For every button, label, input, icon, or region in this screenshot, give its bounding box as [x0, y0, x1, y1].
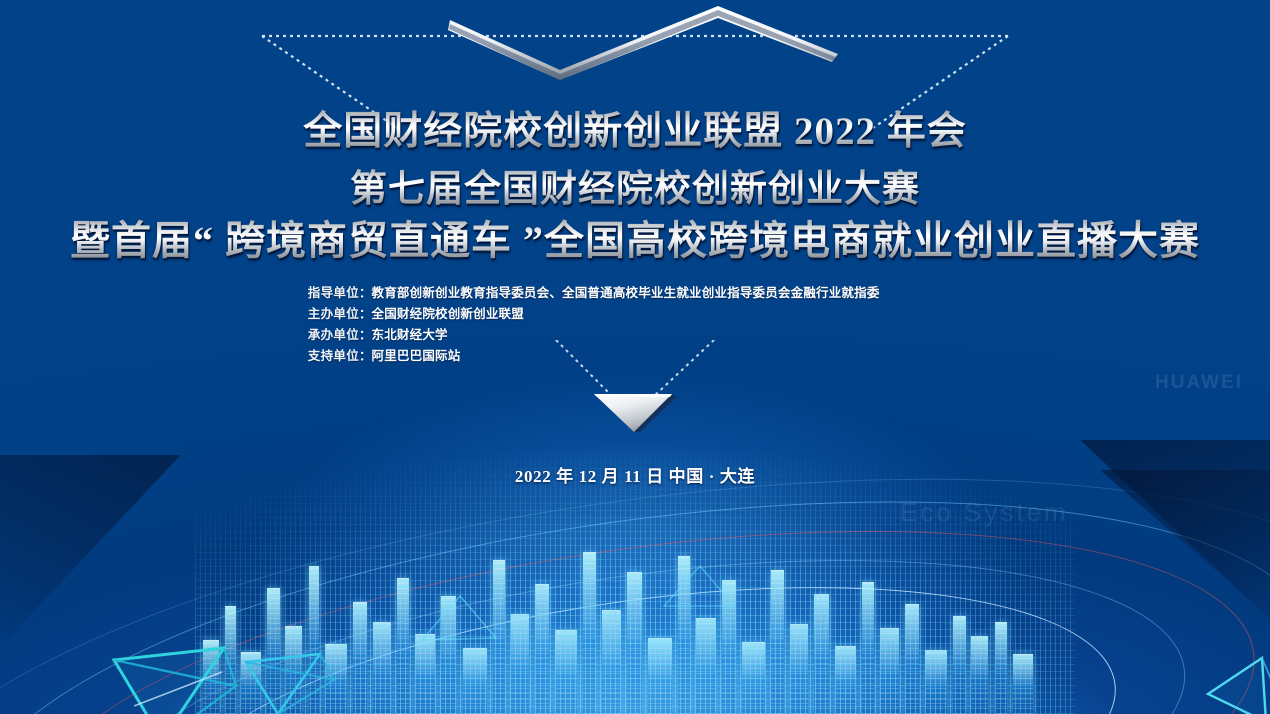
wireframe-triangle-left-small: [238, 640, 368, 714]
organizer-value: 教育部创新创业教育指导委员会、全国普通高校毕业生就业创业指导委员会金融行业就指委: [372, 282, 880, 301]
headline-line-3: 暨首届“ 跨境商贸直通车 ”全国高校跨境电商就业创业直播大赛: [0, 208, 1270, 266]
chevron-ribbon: [448, 6, 838, 80]
wireframe-triangle-city-a: [416, 588, 502, 652]
organizer-colon: ：: [359, 303, 372, 322]
conference-banner: Eco System HUAWEI: [0, 0, 1270, 714]
organizer-colon: ：: [359, 282, 372, 301]
watermark-eco-system: Eco System: [900, 497, 1069, 528]
center-decoration: [0, 340, 1270, 440]
headline-line-1: 全国财经院校创新创业联盟 2022 年会: [0, 100, 1270, 156]
dotted-line-converge-right: [652, 340, 714, 398]
organizer-row-host: 主办单位 ： 全国财经院校创新创业联盟: [273, 303, 993, 322]
organizer-label: 指导单位: [273, 282, 359, 301]
organizer-value: 全国财经院校创新创业联盟: [372, 303, 524, 322]
headline-line-2: 第七届全国财经院校创新创业大赛: [0, 158, 1270, 212]
wireframe-triangle-city-b: [660, 560, 740, 618]
wireframe-triangle-right: [1200, 650, 1270, 714]
organizer-label: 主办单位: [273, 303, 359, 322]
dotted-line-converge-left: [556, 340, 614, 398]
organizer-row-guidance: 指导单位 ： 教育部创新创业教育指导委员会、全国普通高校毕业生就业创业指导委员会…: [273, 282, 993, 301]
event-date-location: 2022 年 12 月 11 日 中国 · 大连: [0, 462, 1270, 487]
down-triangle-icon: [594, 394, 676, 432]
